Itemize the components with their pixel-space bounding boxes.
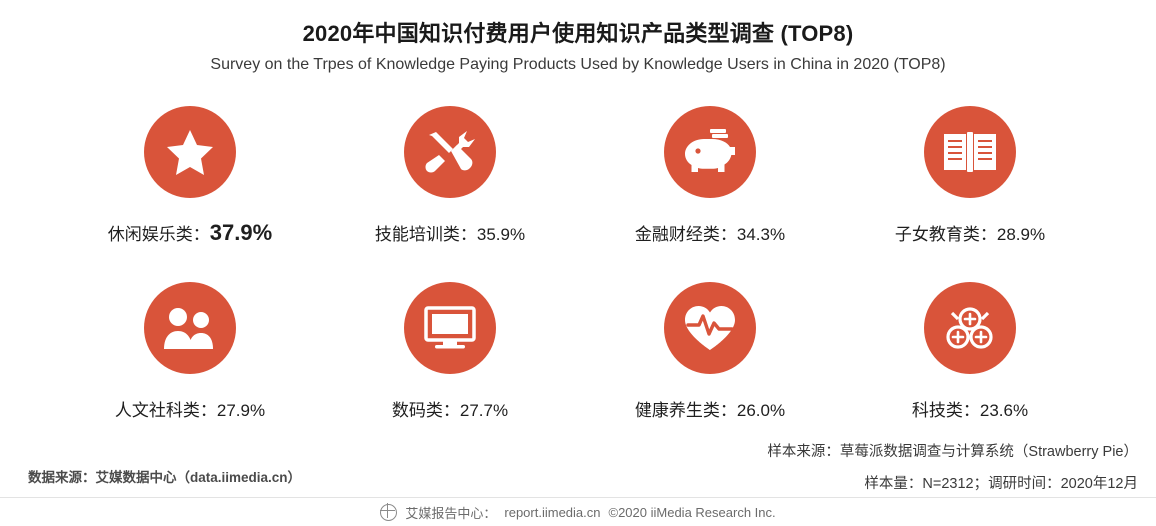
stat-item: 科技类：23.6% bbox=[840, 280, 1100, 456]
stat-caption: 健康养生类：26.0% bbox=[635, 396, 785, 421]
footer-link[interactable]: report.iimedia.cn bbox=[504, 505, 600, 520]
monitor-icon bbox=[404, 282, 496, 374]
stat-grid: 休闲娱乐类：37.9% 技能培训类：35.9% bbox=[60, 104, 1100, 456]
stat-label: 技能培训类： bbox=[375, 225, 477, 244]
stat-item: 数码类：27.7% bbox=[320, 280, 580, 456]
heart-pulse-icon bbox=[664, 282, 756, 374]
stat-value: 26.0% bbox=[737, 401, 785, 420]
footer: 艾媒报告中心： report.iimedia.cn ©2020 iiMedia … bbox=[0, 497, 1156, 526]
globe-icon bbox=[380, 504, 397, 521]
star-icon bbox=[144, 106, 236, 198]
stat-item: 人文社科类：27.9% bbox=[60, 280, 320, 456]
data-source-note: 数据来源：艾媒数据中心（data.iimedia.cn） bbox=[28, 466, 301, 486]
sample-size-note: 样本量：N=2312；调研时间：2020年12月 bbox=[864, 472, 1138, 493]
stat-value: 35.9% bbox=[477, 225, 525, 244]
stat-label: 人文社科类： bbox=[115, 401, 217, 420]
footer-copyright: ©2020 iiMedia Research Inc. bbox=[609, 505, 776, 520]
tools-icon bbox=[404, 106, 496, 198]
stat-value: 27.9% bbox=[217, 401, 265, 420]
stat-value: 37.9% bbox=[210, 220, 272, 245]
piggy-bank-icon bbox=[664, 106, 756, 198]
stat-value: 23.6% bbox=[980, 401, 1028, 420]
stat-caption: 数码类：27.7% bbox=[392, 396, 508, 421]
stat-item: 技能培训类：35.9% bbox=[320, 104, 580, 280]
stat-value: 27.7% bbox=[460, 401, 508, 420]
footer-brand: 艾媒报告中心： bbox=[405, 503, 496, 522]
sample-source-note: 样本来源：草莓派数据调查与计算系统（Strawberry Pie） bbox=[767, 440, 1138, 461]
stat-item: 金融财经类：34.3% bbox=[580, 104, 840, 280]
stat-label: 科技类： bbox=[912, 401, 980, 420]
stat-item: 休闲娱乐类：37.9% bbox=[60, 104, 320, 280]
stat-value: 28.9% bbox=[997, 225, 1045, 244]
stat-label: 休闲娱乐类： bbox=[108, 225, 210, 244]
people-icon bbox=[144, 282, 236, 374]
stat-caption: 人文社科类：27.9% bbox=[115, 396, 265, 421]
stat-item: 健康养生类：26.0% bbox=[580, 280, 840, 456]
stat-label: 金融财经类： bbox=[635, 225, 737, 244]
stat-label: 健康养生类： bbox=[635, 401, 737, 420]
page-subtitle: Survey on the Trpes of Knowledge Paying … bbox=[0, 56, 1156, 74]
stat-caption: 子女教育类：28.9% bbox=[895, 220, 1045, 245]
page-title: 2020年中国知识付费用户使用知识产品类型调查 (TOP8) bbox=[0, 16, 1156, 48]
stat-label: 数码类： bbox=[392, 401, 460, 420]
stat-caption: 科技类：23.6% bbox=[912, 396, 1028, 421]
stat-caption: 技能培训类：35.9% bbox=[375, 220, 525, 245]
stat-caption: 金融财经类：34.3% bbox=[635, 220, 785, 245]
stat-value: 34.3% bbox=[737, 225, 785, 244]
open-book-icon bbox=[924, 106, 1016, 198]
stat-caption: 休闲娱乐类：37.9% bbox=[108, 220, 272, 246]
technology-molecule-icon bbox=[924, 282, 1016, 374]
stat-label: 子女教育类： bbox=[895, 225, 997, 244]
stat-item: 子女教育类：28.9% bbox=[840, 104, 1100, 280]
